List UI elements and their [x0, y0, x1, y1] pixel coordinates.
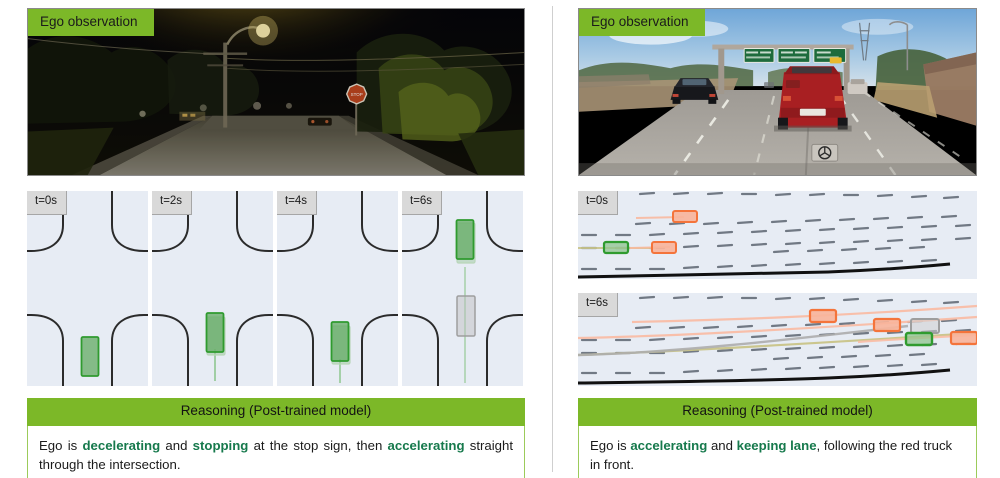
reasoning-seg: Ego is	[590, 438, 630, 453]
reasoning-header-right: Reasoning (Post-trained model)	[578, 398, 977, 426]
ego-observation-image-right: Ego observation	[578, 8, 977, 176]
left-example: STOP Ego observation	[27, 8, 525, 470]
ego-observation-image-left: STOP Ego observation	[27, 8, 525, 176]
highway-signs	[744, 49, 845, 64]
bev-frame-0[interactable]: t=0s	[27, 191, 148, 386]
bev-time-label-2: t=4s	[277, 191, 317, 215]
ego-vehicle-overlay	[277, 191, 398, 386]
ego-observation-label-left: Ego observation	[28, 9, 154, 36]
column-divider	[552, 6, 553, 472]
bev-frame-3[interactable]: t=6s	[402, 191, 523, 386]
reasoning-seg: and	[707, 438, 736, 453]
ego-vehicle-overlay	[152, 191, 273, 386]
ego-trajectory-overlay	[402, 191, 523, 386]
highway-trajectories-overlay-1	[578, 293, 977, 386]
reasoning-header-left: Reasoning (Post-trained model)	[27, 398, 525, 426]
figure-root: STOP Ego observation	[0, 0, 1000, 478]
bev-frame-highway-0[interactable]: t=0s	[578, 191, 977, 279]
highway-agents-overlay-0	[578, 191, 977, 279]
bev-sequence-left: t=0s t=2s	[27, 191, 525, 386]
bev-time-label-0: t=0s	[27, 191, 67, 215]
reasoning-box-right: Reasoning (Post-trained model) Ego is ac…	[578, 398, 977, 478]
bev-frame-2[interactable]: t=4s	[277, 191, 398, 386]
bev-frame-highway-1[interactable]: t=6s	[578, 293, 977, 386]
reasoning-seg: and	[160, 438, 192, 453]
ego-observation-label-right: Ego observation	[579, 9, 705, 36]
right-example: Ego observation	[578, 8, 977, 470]
red-pickup-truck	[774, 66, 852, 131]
bev-time-label-3: t=6s	[402, 191, 442, 215]
bev-time-label-1: t=2s	[152, 191, 192, 215]
bev-frame-1[interactable]: t=2s	[152, 191, 273, 386]
reasoning-seg: at the stop sign, then	[248, 438, 387, 453]
reasoning-keyword: accelerating	[388, 438, 465, 453]
reasoning-box-left: Reasoning (Post-trained model) Ego is de…	[27, 398, 525, 478]
reasoning-text-right: Ego is accelerating and keeping lane, fo…	[578, 426, 977, 478]
reasoning-seg: Ego is	[39, 438, 82, 453]
reasoning-keyword: keeping lane	[737, 438, 817, 453]
reasoning-keyword: decelerating	[82, 438, 160, 453]
bev-time-label-highway-1: t=6s	[578, 293, 618, 317]
reasoning-keyword: accelerating	[630, 438, 707, 453]
bev-time-label-highway-0: t=0s	[578, 191, 618, 215]
reasoning-keyword: stopping	[193, 438, 249, 453]
reasoning-text-left: Ego is decelerating and stopping at the …	[27, 426, 525, 478]
ego-vehicle-overlay	[27, 191, 148, 386]
